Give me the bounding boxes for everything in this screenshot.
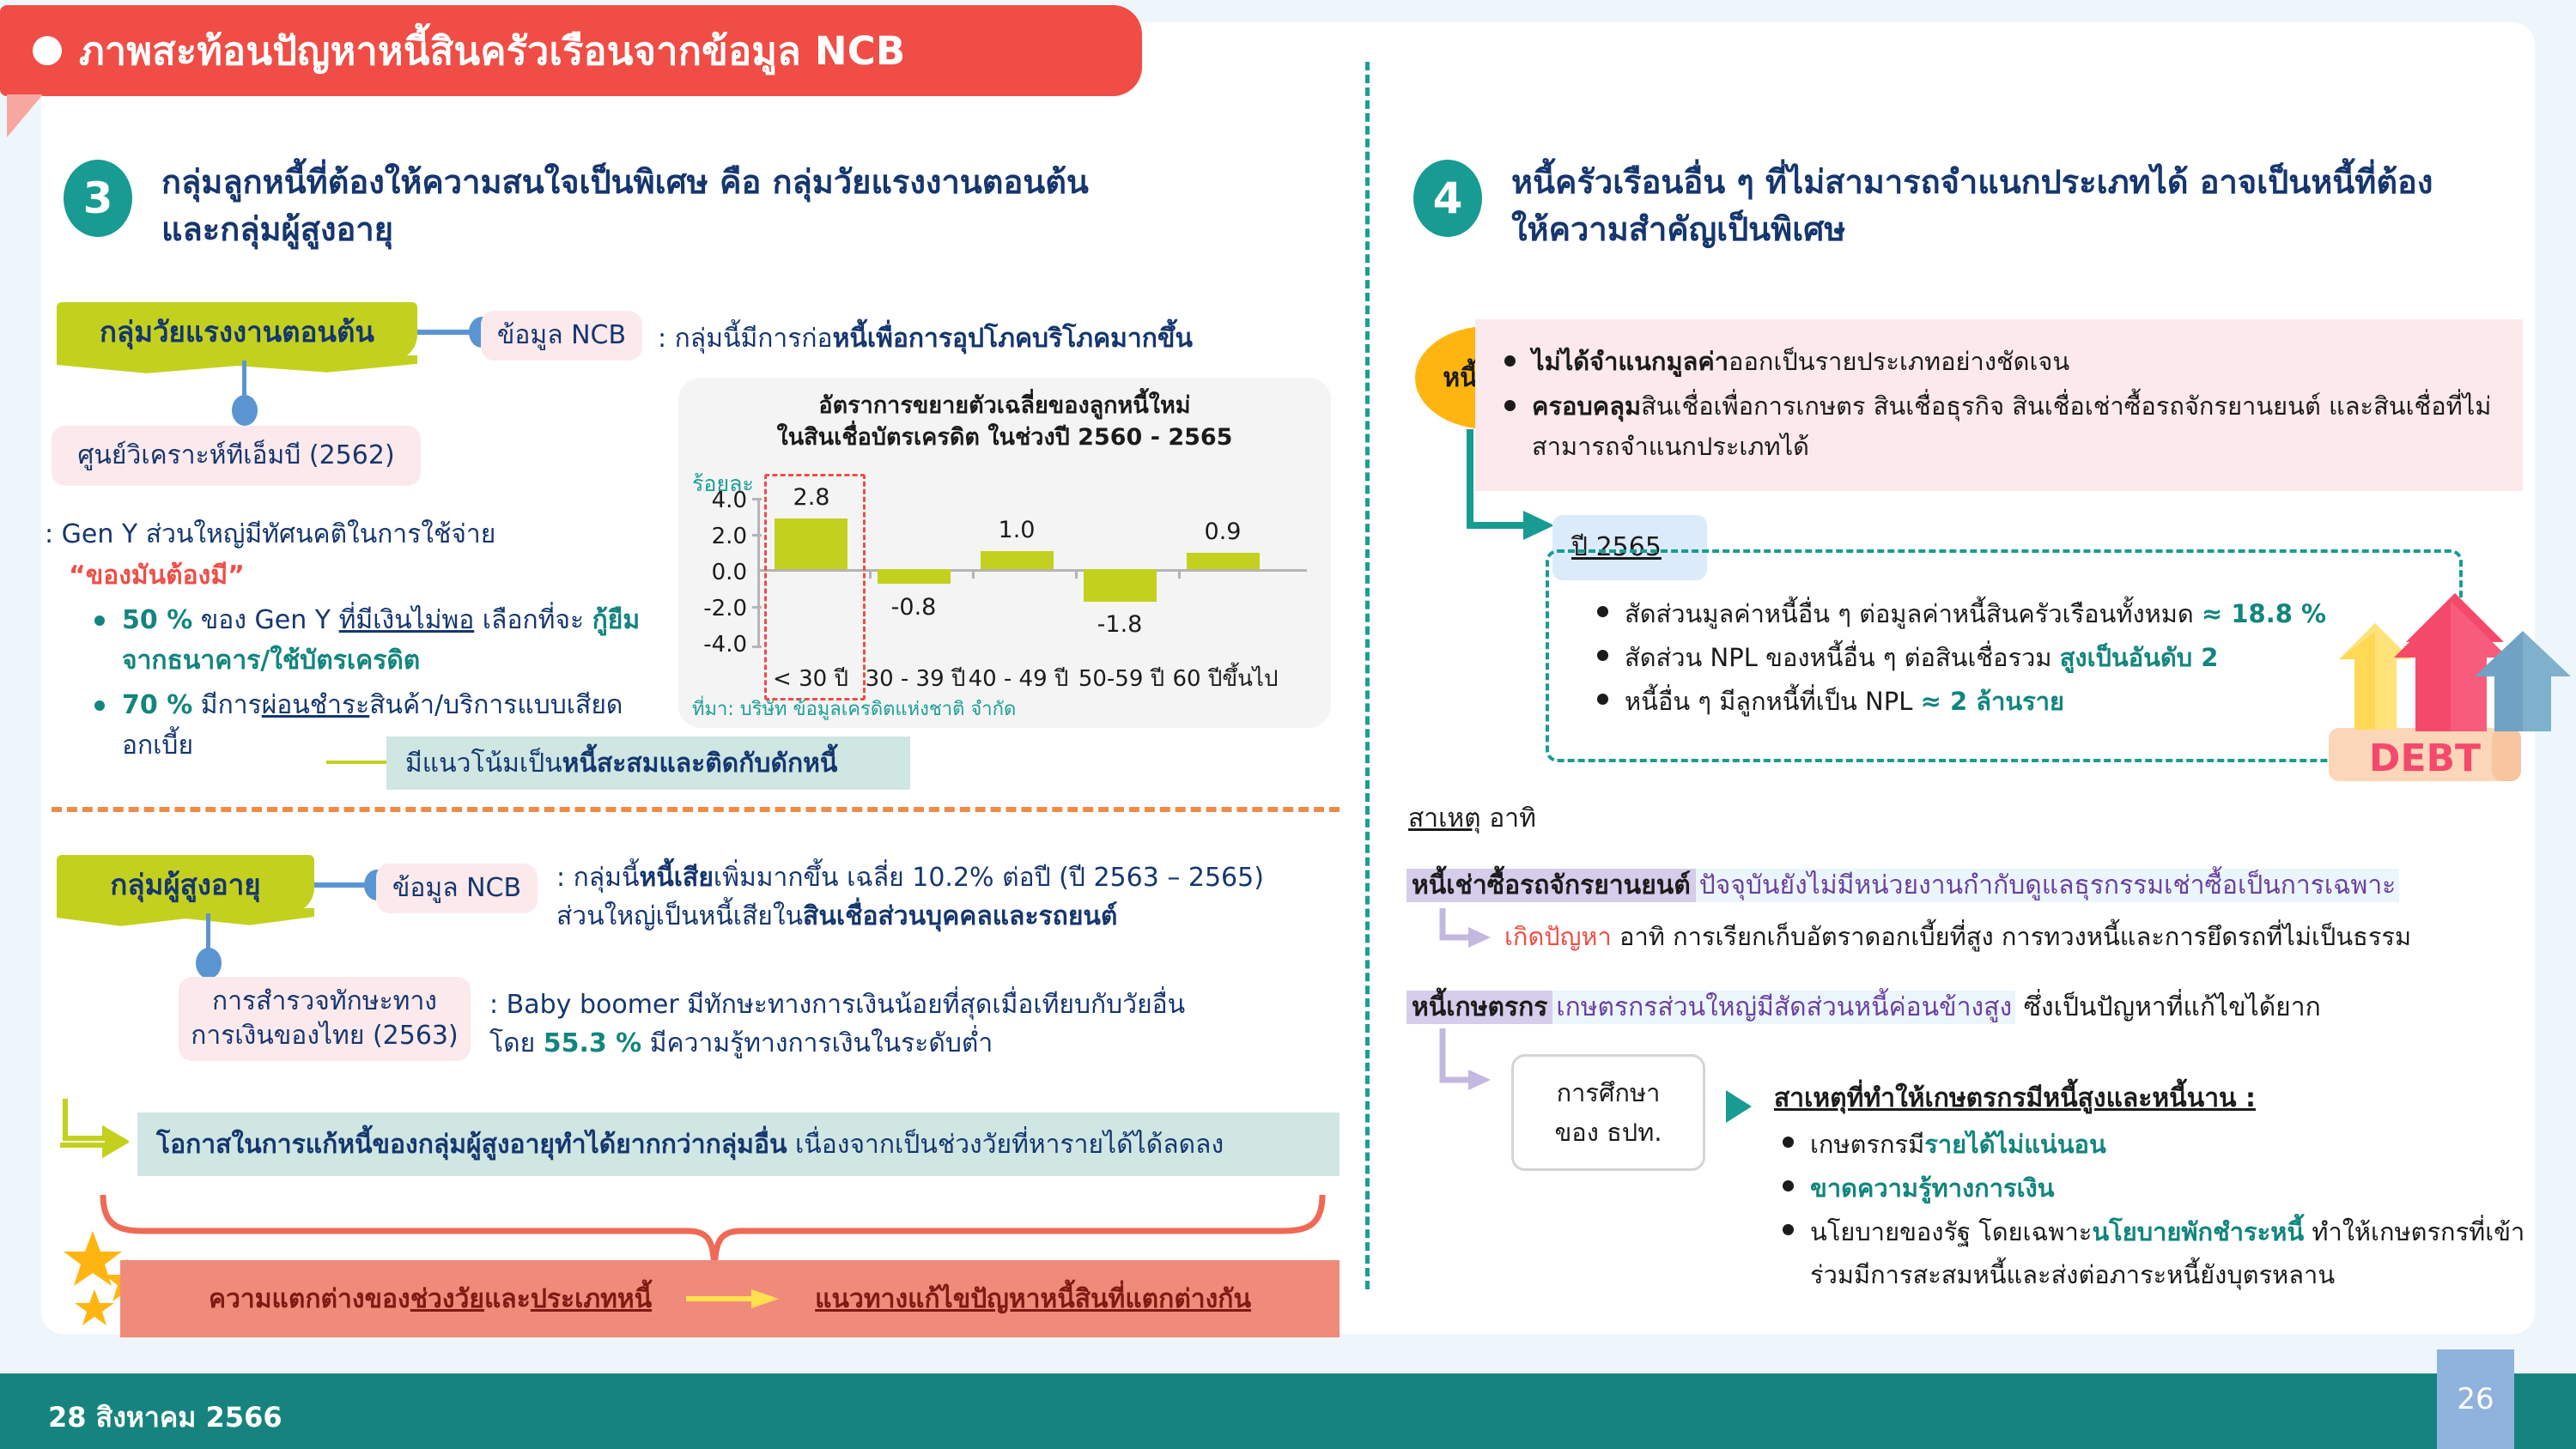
footer-bar bbox=[0, 1373, 2576, 1449]
cause-1-highlight: ปัจจุบันยังไม่มีหน่วยงานกำกับดูแลธุรกรรม… bbox=[1696, 869, 2400, 902]
cause-1-subline: เกิดปัญหา อาทิ การเรียกเก็บอัตราดอกเบี้ย… bbox=[1504, 917, 2561, 956]
source-financial-survey-line2: การเงินของไทย (2563) bbox=[191, 1019, 458, 1054]
chart-highlight-box bbox=[764, 474, 866, 700]
flag-elderly-group: กลุ่มผู้สูงอายุ bbox=[57, 855, 314, 913]
bar-category-2: 40 - 49 ปี bbox=[967, 661, 1070, 696]
bar-4 bbox=[1187, 553, 1260, 569]
bot-study-line1: การศึกษา bbox=[1557, 1073, 1661, 1113]
cause-2-tag: หนี้เกษตรกร bbox=[1406, 991, 1552, 1024]
y-tick-4: 4.0 bbox=[687, 488, 747, 513]
triangle-marker-icon bbox=[1726, 1090, 1752, 1123]
conclusion-bar: ความแตกต่างของช่วงวัยและประเภทหนี้ แนวทา… bbox=[120, 1260, 1340, 1337]
cause-2-subtitle: สาเหตุที่ทำให้เกษตรกรมีหนี้สูงและหนี้นาน… bbox=[1774, 1078, 2547, 1119]
y-axis-tick-4 bbox=[752, 606, 762, 609]
page-number-badge: 26 bbox=[2437, 1349, 2514, 1449]
arrow-corner-down-right-icon bbox=[60, 1099, 129, 1167]
x-tick-3 bbox=[1075, 569, 1078, 579]
y-axis-line bbox=[757, 498, 760, 648]
flag-working-age-label: กลุ่มวัยแรงงานตอนต้น bbox=[100, 309, 374, 355]
right-heading-line2: ให้ความสำคัญเป็นพิเศษ bbox=[1511, 210, 1845, 248]
group1-callout: มีแนวโน้มเป็นหนี้สะสมและติดกับดักหนี้ bbox=[386, 737, 910, 790]
source-financial-survey-line1: การสำรวจทักษะทาง bbox=[212, 985, 437, 1020]
y-axis-tick-2 bbox=[752, 534, 762, 537]
arrow-sub-icon bbox=[1436, 908, 1496, 956]
conclusion-left: ความแตกต่างของช่วงวัยและประเภทหนี้ bbox=[209, 1279, 652, 1319]
right-section-heading: หนี้ครัวเรือนอื่น ๆ ที่ไม่สามารถจำแนกประ… bbox=[1511, 159, 2567, 253]
connector-dot-4 bbox=[196, 948, 222, 979]
column-divider bbox=[1365, 62, 1370, 1289]
debt-label: DEBT bbox=[2318, 592, 2319, 593]
connector-dot-2 bbox=[232, 395, 258, 426]
y-tick-3: 2.0 bbox=[687, 524, 747, 549]
bar-category-3: 50-59 ปี bbox=[1070, 661, 1173, 696]
list-item: เกษตรกรมีรายได้ไม่แน่นอน bbox=[1774, 1123, 2547, 1167]
y-tick-2: 0.0 bbox=[687, 560, 747, 585]
bot-study-line2: ของ ธปท. bbox=[1554, 1113, 1662, 1152]
y-axis-tick-bottom bbox=[752, 646, 762, 648]
group2-ncb-text: : กลุ่มนี้หนี้เสียเพิ่มมากขึ้น เฉลี่ย 10… bbox=[556, 858, 1346, 936]
left-section-heading: กลุ่มลูกหนี้ที่ต้องให้ความสนใจเป็นพิเศษ … bbox=[161, 159, 1338, 253]
chart-title-line2: ในสินเชื่อบัตรเครดิต ในช่วงปี 2560 - 256… bbox=[777, 424, 1233, 451]
section-number-4: 4 bbox=[1413, 160, 1482, 237]
flag-working-age-group: กลุ่มวัยแรงงานตอนต้น bbox=[57, 302, 417, 361]
y-tick-0: -4.0 bbox=[687, 632, 747, 658]
group2-babyboomer-text: : Baby boomer มีทักษะทางการเงินน้อยที่สุ… bbox=[489, 985, 1348, 1063]
bar-value-3: -1.8 bbox=[1080, 611, 1159, 638]
arrow-corner-down-right-teal-icon bbox=[1451, 429, 1563, 549]
bar-category-1: 30 - 39 ปี bbox=[864, 661, 967, 696]
chart-title: อัตราการขยายตัวเฉลี่ยของลูกหนี้ใหม่ ในสิ… bbox=[678, 378, 1331, 454]
group1-ncb-text: : กลุ่มนี้มีการก่อหนี้เพื่อการอุปโภคบริโ… bbox=[658, 319, 1345, 358]
bar-value-4: 0.9 bbox=[1183, 518, 1262, 545]
debt-arrows-icon: DEBT bbox=[2324, 592, 2576, 781]
chart-card: อัตราการขยายตัวเฉลี่ยของลูกหนี้ใหม่ ในสิ… bbox=[678, 378, 1331, 728]
group1-quote: “ของมันต้องมี” bbox=[69, 556, 687, 595]
bot-study-box: การศึกษา ของ ธปท. bbox=[1511, 1054, 1705, 1171]
source-ncb-2: ข้อมูล NCB bbox=[376, 864, 538, 913]
bar-3 bbox=[1084, 569, 1157, 602]
chart-title-line1: อัตราการขยายตัวเฉลี่ยของลูกหนี้ใหม่ bbox=[818, 392, 1190, 419]
other-debt-panel: ไม่ได้จำแนกมูลค่าออกเป็นรายประเภทอย่างชั… bbox=[1475, 319, 2523, 491]
page-title: ภาพสะท้อนปัญหาหนี้สินครัวเรือนจากข้อมูล … bbox=[79, 32, 905, 70]
flag-elderly-label: กลุ่มผู้สูงอายุ bbox=[110, 862, 260, 907]
section-number-3: 3 bbox=[64, 160, 132, 237]
group1-line1: : Gen Y ส่วนใหญ่มีทัศนคติในการใช้จ่าย bbox=[45, 515, 663, 554]
conclusion-right: แนวทางแก้ไขปัญหาหนี้สินที่แตกต่างกัน bbox=[815, 1279, 1251, 1319]
arrow-sub-2-icon bbox=[1436, 1028, 1496, 1102]
cause-2-row: หนี้เกษตรกรเกษตรกรส่วนใหญ่มีสัดส่วนหนี้ค… bbox=[1406, 987, 2557, 1028]
bar-1 bbox=[878, 569, 951, 584]
title-banner: ภาพสะท้อนปัญหาหนี้สินครัวเรือนจากข้อมูล … bbox=[0, 5, 1142, 96]
section-separator bbox=[52, 807, 1340, 812]
list-item: ครอบคลุมสินเชื่อเพื่อการเกษตร สินเชื่อธุ… bbox=[1498, 386, 2500, 466]
left-heading-line1: กลุ่มลูกหนี้ที่ต้องให้ความสนใจเป็นพิเศษ … bbox=[161, 163, 1089, 201]
source-ncb-1: ข้อมูล NCB bbox=[481, 311, 642, 361]
source-ncb-2-label: ข้อมูล NCB bbox=[392, 871, 521, 906]
source-tmb-center: ศูนย์วิเคราะห์ทีเอ็มบี (2562) bbox=[52, 426, 421, 486]
list-item: 50 % ของ Gen Y ที่มีเงินไม่พอ เลือกที่จะ… bbox=[89, 601, 647, 681]
y-tick-1: -2.0 bbox=[687, 596, 747, 621]
svg-text:DEBT: DEBT bbox=[2369, 737, 2481, 780]
y-axis-tick-top bbox=[752, 498, 762, 500]
causes-title: สาเหตุ อาทิ bbox=[1408, 798, 1536, 839]
right-heading-line1: หนี้ครัวเรือนอื่น ๆ ที่ไม่สามารถจำแนกประ… bbox=[1511, 163, 2433, 201]
source-financial-survey: การสำรวจทักษะทาง การเงินของไทย (2563) bbox=[179, 977, 471, 1061]
bar-value-2: 1.0 bbox=[977, 517, 1056, 543]
footer-date: 28 สิงหาคม 2566 bbox=[48, 1396, 283, 1440]
chart-source: ที่มา: บริษัท ข้อมูลเครดิตแห่งชาติ จำกัด bbox=[692, 694, 1016, 724]
x-tick-1 bbox=[869, 569, 872, 579]
cause-1-tag: หนี้เช่าซื้อรถจักรยานยนต์ bbox=[1406, 869, 1696, 902]
arrow-right-yellow-icon bbox=[686, 1286, 781, 1312]
source-tmb-label: ศูนย์วิเคราะห์ทีเอ็มบี (2562) bbox=[77, 439, 394, 474]
bar-value-1: -0.8 bbox=[874, 594, 953, 621]
cause-2-highlight: เกษตรกรส่วนใหญ่มีสัดส่วนหนี้ค่อนข้างสูง bbox=[1552, 991, 2015, 1024]
left-heading-line2: และกลุ่มผู้สูงอายุ bbox=[161, 210, 393, 248]
list-item: นโยบายของรัฐ โดยเฉพาะนโยบายพักชำระหนี้ ท… bbox=[1774, 1210, 2547, 1298]
source-ncb-1-label: ข้อมูล NCB bbox=[497, 318, 626, 354]
bar-category-4: 60 ปีขึ้นไป bbox=[1170, 661, 1281, 696]
slide-background: ภาพสะท้อนปัญหาหนี้สินครัวเรือนจากข้อมูล … bbox=[0, 0, 2576, 1449]
group2-callout: โอกาสในการแก้หนี้ของกลุ่มผู้สูงอายุทำได้… bbox=[137, 1113, 1340, 1176]
bar-2 bbox=[981, 551, 1054, 569]
list-item: ไม่ได้จำแนกมูลค่าออกเป็นรายประเภทอย่างชั… bbox=[1498, 342, 2500, 381]
cause-1-row: หนี้เช่าซื้อรถจักรยานยนต์ปัจจุบันยังไม่ม… bbox=[1406, 867, 2540, 905]
list-item: ขาดความรู้ทางการเงิน bbox=[1774, 1167, 2547, 1210]
banner-tail-shape bbox=[7, 94, 43, 137]
curly-brace bbox=[94, 1193, 1331, 1270]
cause-2-bullets: เกษตรกรมีรายได้ไม่แน่นอน ขาดความรู้ทางกา… bbox=[1774, 1123, 2547, 1297]
bullet-dot-icon bbox=[33, 36, 62, 65]
x-tick-2 bbox=[972, 569, 975, 579]
x-tick-4 bbox=[1178, 569, 1181, 579]
